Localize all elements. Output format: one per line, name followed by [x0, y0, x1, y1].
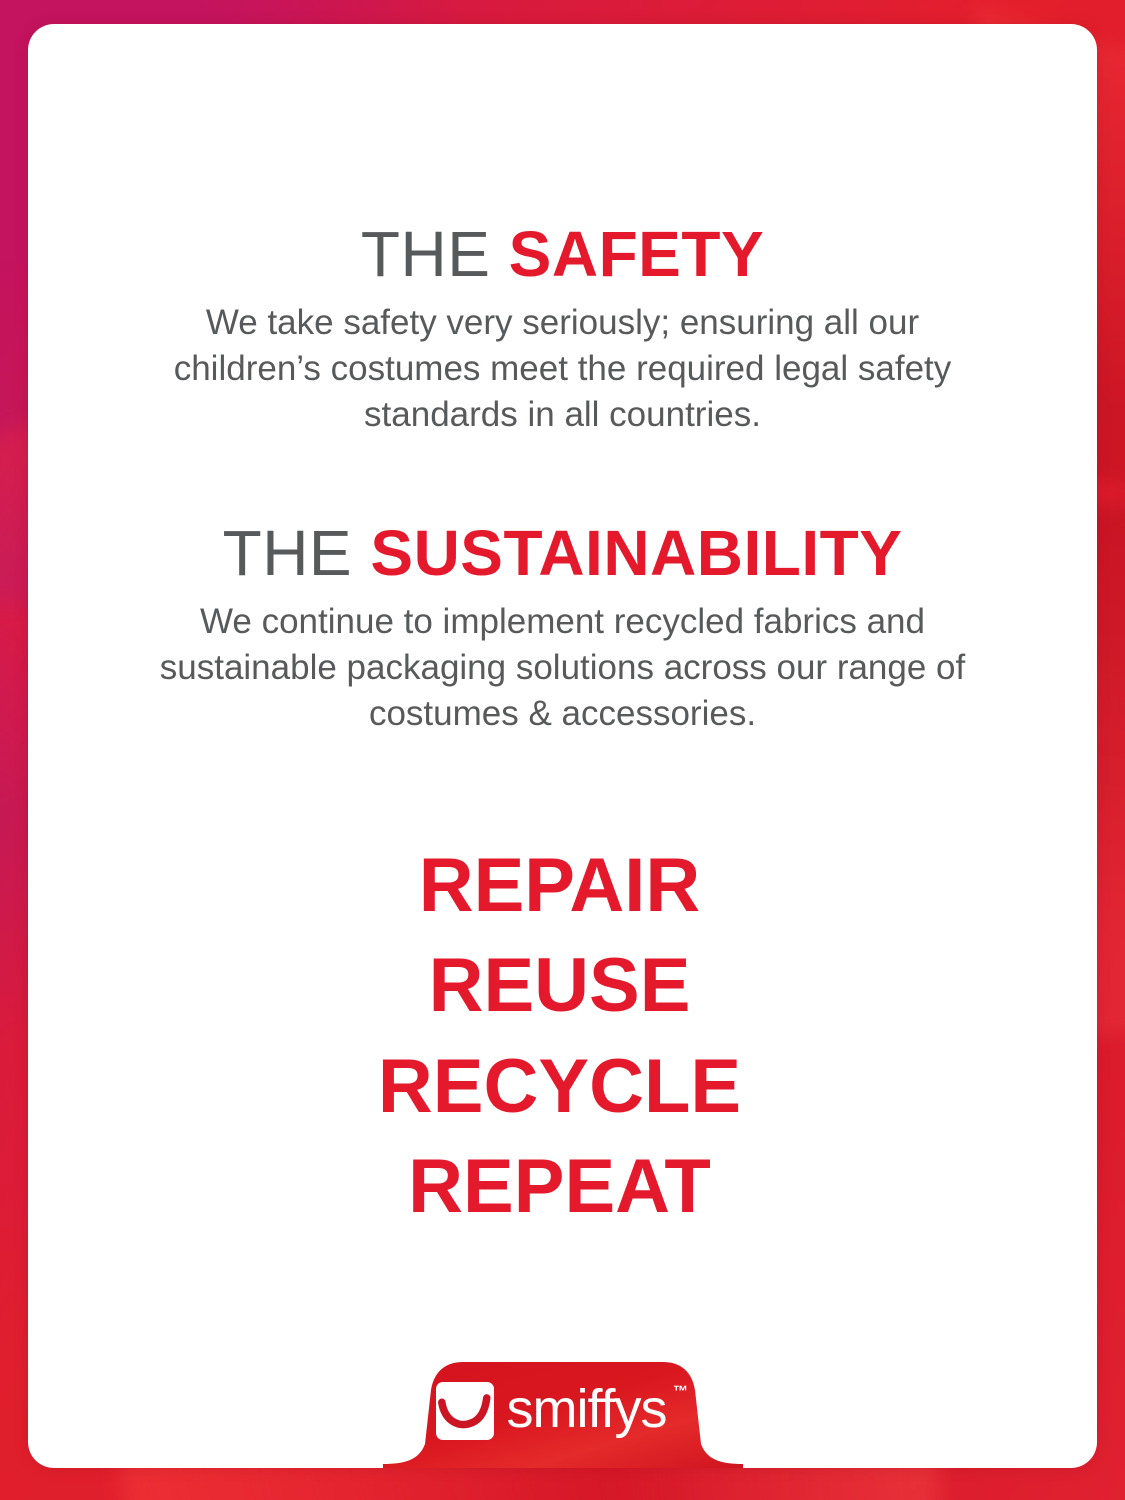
mantra-word-reuse: REUSE	[378, 936, 741, 1036]
safety-heading-prefix: THE	[361, 218, 491, 290]
smiffys-wordmark-text: smiffys	[506, 1379, 666, 1439]
safety-heading-accent: SAFETY	[509, 218, 764, 290]
mantra-word-repeat: REPEAT	[378, 1137, 741, 1237]
sustainability-heading: THE SUSTAINABILITY	[28, 521, 1097, 585]
mantra-word-recycle: RECYCLE	[378, 1037, 741, 1137]
sustainability-heading-prefix: THE	[223, 517, 353, 589]
mantra-list: REPAIR REUSE RECYCLE REPEAT	[28, 836, 1097, 1237]
content-card: THE SAFETY We take safety very seriously…	[28, 24, 1097, 1468]
safety-heading: THE SAFETY	[28, 222, 1097, 286]
section-sustainability: THE SUSTAINABILITY We continue to implem…	[28, 521, 1097, 738]
sustainability-heading-accent: SUSTAINABILITY	[370, 517, 902, 589]
safety-body-text: We take safety very seriously; ensuring …	[145, 300, 980, 439]
smiffys-wordmark: smiffys™	[506, 1382, 688, 1436]
sustainability-body-text: We continue to implement recycled fabric…	[158, 599, 968, 738]
poster: THE SAFETY We take safety very seriously…	[0, 0, 1125, 1500]
smile-icon	[436, 1382, 494, 1440]
smiffys-logo: smiffys™	[383, 1356, 743, 1468]
section-safety: THE SAFETY We take safety very seriously…	[28, 222, 1097, 439]
trademark-symbol: ™	[673, 1384, 689, 1399]
mantra-word-repair: REPAIR	[378, 836, 741, 936]
